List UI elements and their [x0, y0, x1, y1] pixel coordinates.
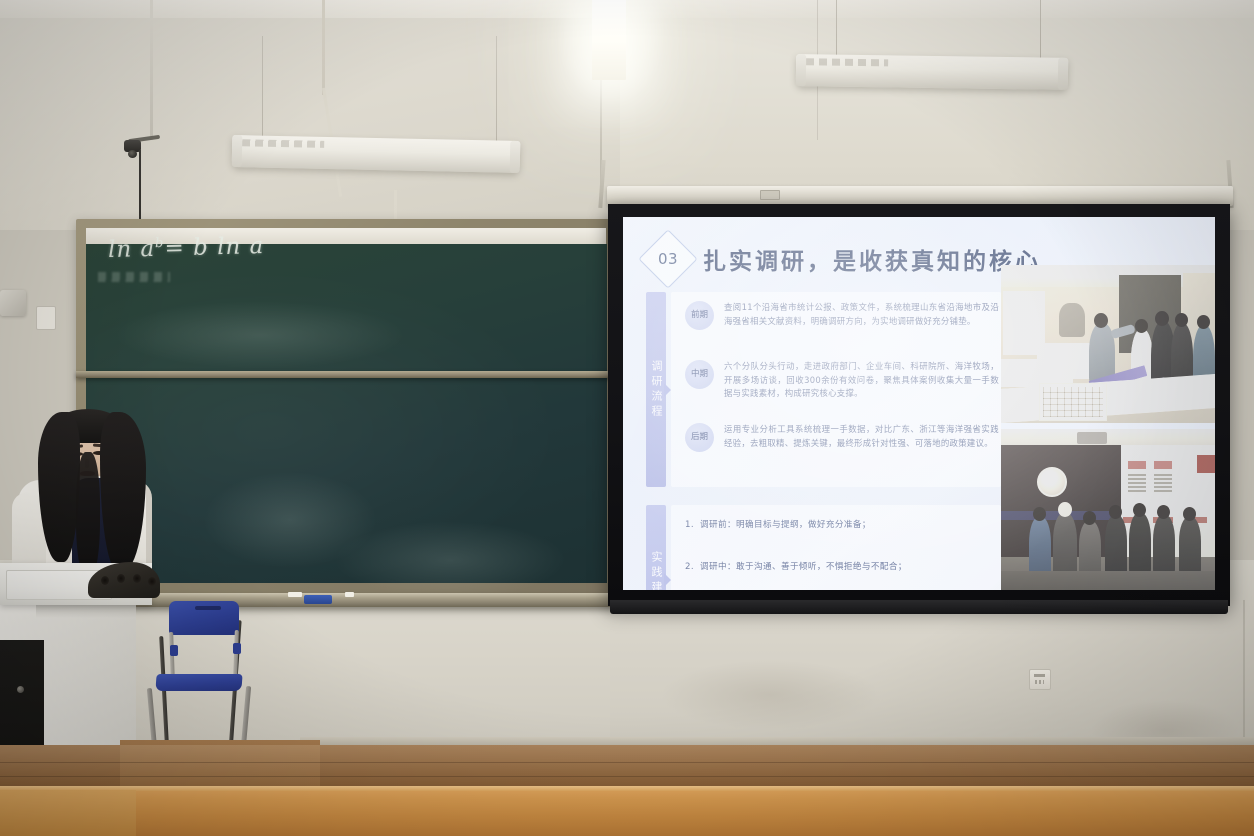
projection-screen-surface: 03 扎实调研，是收获真知的核心 调研流程 前期 查阅11个沿海省市统计公报、政… [623, 217, 1215, 590]
tab-practical-tips: 实践建议 [646, 505, 666, 590]
ceiling-conduit [322, 0, 325, 95]
tab-practical-tips-label: 实践建议 [648, 551, 664, 590]
practical-tips-panel [671, 505, 1001, 590]
camera-mount-pole [150, 0, 153, 140]
lamp-wire [1040, 0, 1041, 58]
chair-hinge [233, 643, 241, 654]
floor-plank-line [0, 776, 1254, 777]
tip-number-2: 2. [685, 561, 694, 575]
presenter-hair-strand [76, 452, 100, 580]
flow-step-early: 前期 查阅11个沿海省市统计公报、政策文件，系统梳理山东省沿海地市及沿海强省相关… [685, 301, 999, 330]
chalkboard-divider-rail [76, 371, 616, 378]
hanging-lamp-right [796, 54, 1068, 90]
tip-number-1: 1. [685, 519, 694, 533]
classroom-photo: ln ab= b ln a 03 扎实调研，是收获真知的核心 调研流程 [0, 0, 1254, 836]
screen-pull-tab[interactable] [760, 190, 780, 200]
floor-plank-line [0, 762, 1254, 763]
section-number-diamond: 03 [638, 229, 697, 288]
speaker-hole [148, 577, 156, 586]
tab-research-flow: 调研流程 [646, 292, 666, 487]
flow-step-mid: 中期 六个分队分头行动，走进政府部门、企业车间、科研院所、海洋牧场，开展多场访谈… [685, 360, 999, 401]
flow-badge-early: 前期 [685, 301, 714, 330]
formula-exponent: b [155, 236, 165, 251]
chair-seat[interactable] [155, 674, 242, 691]
front-desk [0, 786, 1254, 836]
flow-text-mid: 六个分队分头行动，走进政府部门、企业车间、科研院所、海洋牧场，开展多场访谈，回收… [724, 360, 999, 401]
screen-housing [607, 186, 1233, 206]
chalkboard-formula: ln ab= b ln a [108, 233, 265, 263]
section-number: 03 [658, 250, 678, 268]
ceiling-light [592, 0, 626, 80]
tip-item-1: 1. 调研前：明确目标与提纲，做好充分准备； [685, 519, 973, 533]
speaker-hole [133, 574, 141, 583]
chair-backrest-slot [195, 606, 221, 610]
chalkboard-surface [86, 244, 607, 583]
tab-notch [664, 383, 671, 397]
tip-text-1: 调研前：明确目标与提纲，做好充分准备； [700, 519, 871, 533]
screen-bottom-bar [610, 600, 1228, 614]
lamp-wire [836, 0, 837, 58]
blackboard-eraser[interactable] [304, 595, 332, 604]
front-desk-edge [0, 786, 1254, 791]
flow-badge-late: 后期 [685, 423, 714, 452]
lower-right-wall [610, 600, 1254, 760]
formula-rest: = b ln a [164, 233, 264, 262]
tip-item-2: 2. 调研中：敢于沟通、善于倾听，不惧拒绝与不配合； [685, 561, 973, 575]
speaker-hole [101, 576, 109, 585]
chalk-stick[interactable] [345, 592, 354, 597]
speaker-hole [117, 574, 125, 583]
chalk-erased-marks [98, 272, 170, 282]
wall-speaker [0, 290, 26, 316]
cabinet-lock[interactable] [17, 686, 24, 693]
chalk-stick[interactable] [288, 592, 302, 597]
front-desk-left [0, 790, 136, 836]
chair-hinge [170, 645, 178, 656]
upper-left-wall [0, 0, 620, 230]
slide-title-row: 03 扎实调研，是收获真知的核心 [647, 239, 1041, 279]
tab-notch [664, 573, 671, 587]
hanging-lamp-left [232, 135, 521, 173]
tab-research-flow-label: 调研流程 [648, 360, 664, 420]
tip-text-2: 调研中：敢于沟通、善于倾听，不惧拒绝与不配合； [700, 561, 907, 575]
camera-lens [128, 150, 137, 158]
slide-title: 扎实调研，是收获真知的核心 [703, 242, 1041, 276]
flow-badge-mid: 中期 [685, 360, 714, 389]
flow-text-late: 运用专业分析工具系统梳理一手数据，对比广东、浙江等海洋强省实践经验，去粗取精、提… [724, 423, 999, 450]
seminar-meeting-photo [1001, 429, 1215, 590]
lamp-wire [262, 36, 263, 141]
museum-visit-photo [1001, 265, 1215, 423]
wall-seam-far-right [1243, 600, 1245, 750]
presentation-slide: 03 扎实调研，是收获真知的核心 调研流程 前期 查阅11个沿海省市统计公报、政… [623, 217, 1215, 590]
lamp-wire [496, 36, 497, 141]
flow-step-late: 后期 运用专业分析工具系统梳理一手数据，对比广东、浙江等海洋强省实践经验，去粗取… [685, 423, 999, 452]
ceiling-strip [0, 0, 1254, 18]
formula-base: ln a [108, 236, 156, 263]
wall-switch-plate[interactable] [36, 306, 56, 330]
projection-screen: 03 扎实调研，是收获真知的核心 调研流程 前期 查阅11个沿海省市统计公报、政… [608, 204, 1230, 606]
flow-text-early: 查阅11个沿海省市统计公报、政策文件，系统梳理山东省沿海地市及沿海强省相关文献资… [724, 301, 999, 328]
wall-power-outlet[interactable] [1029, 669, 1051, 690]
